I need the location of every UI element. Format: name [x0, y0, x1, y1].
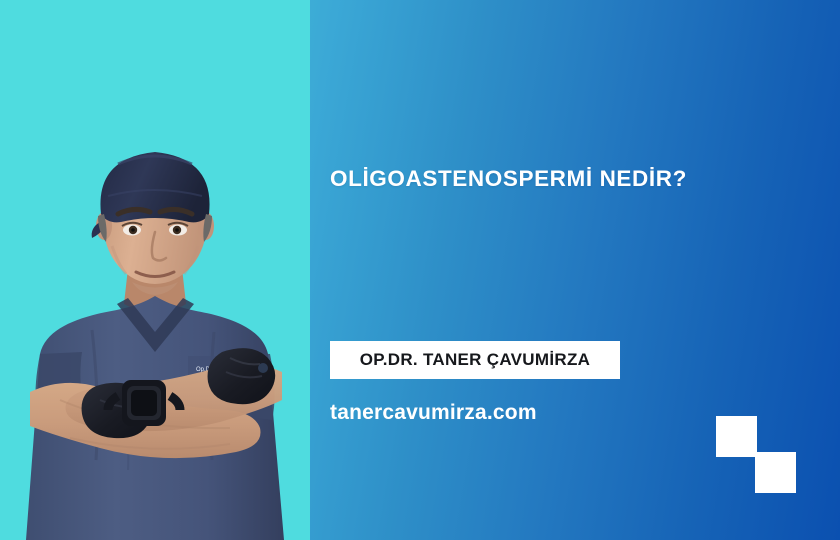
website-url[interactable]: tanercavumirza.com: [330, 401, 537, 425]
page-title: OLİGOASTENOSPERMİ NEDİR?: [330, 165, 687, 192]
decorative-squares: [712, 412, 800, 496]
doctor-name-badge: OP.DR. TANER ÇAVUMİRZA: [330, 341, 620, 379]
doctor-article-banner: Op.Dr.Taner Ç.: [0, 0, 840, 540]
decor-square-upper-left: [716, 416, 757, 457]
doctor-name-label: OP.DR. TANER ÇAVUMİRZA: [360, 350, 590, 370]
doctor-photo-illustration: Op.Dr.Taner Ç.: [0, 0, 310, 540]
doctor-photo: Op.Dr.Taner Ç.: [0, 0, 310, 540]
decor-square-lower-right: [755, 452, 796, 493]
glove-logo-icon: [258, 363, 268, 373]
